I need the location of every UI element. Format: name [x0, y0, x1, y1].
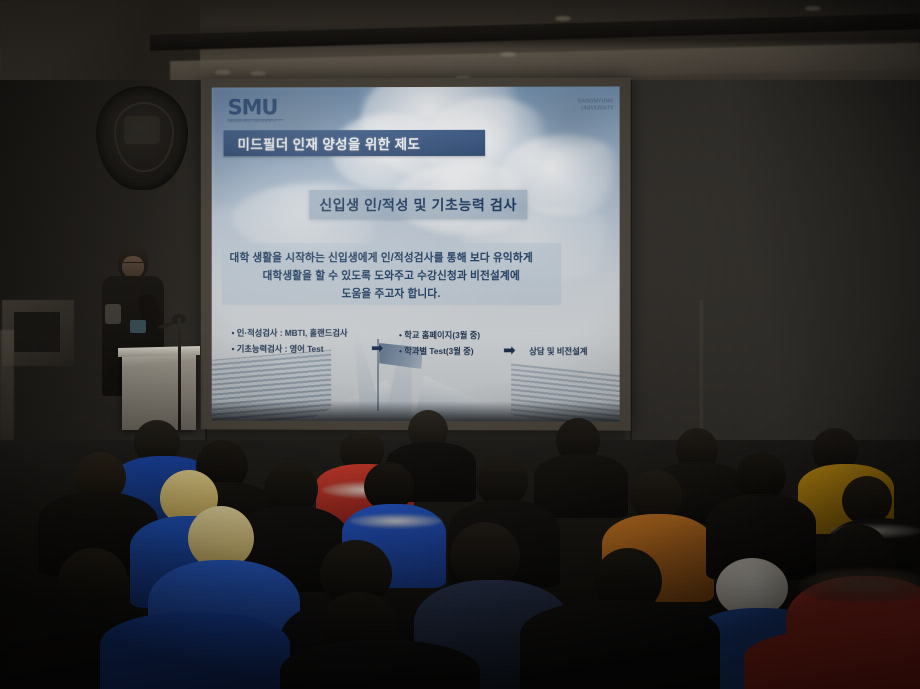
slide-subtitle: 신입생 인/적성 및 기초능력 검사 — [319, 194, 517, 214]
flow-group-1-item-2: • 기초능력검사 : 영어 Test — [232, 341, 348, 357]
projection-screen-frame: SMU SANGMYUNG UNIVERSITY SANGMYUNG UNIVE… — [201, 77, 631, 430]
audience-coat — [100, 612, 290, 689]
flow-group-2: • 학교 홈페이지(3월 중) • 학과별 Test(3월 중) — [399, 327, 480, 359]
slide-flow-diagram: • 인·적성검사 : MBTI, 홀랜드검사 • 기초능력검사 : 영어 Tes… — [212, 325, 620, 378]
glasses-icon — [123, 262, 143, 268]
ceiling-downlight — [555, 16, 571, 21]
right-wall — [625, 80, 920, 460]
audience-head — [630, 470, 682, 520]
flow-group-1: • 인·적성검사 : MBTI, 홀랜드검사 • 기초능력검사 : 영어 Tes… — [232, 325, 348, 357]
flow-group-2-item-1: • 학교 홈페이지(3월 중) — [399, 327, 480, 343]
slide-body-line-1: 대학 생활을 시작하는 신입생에게 인/적성검사를 통해 보다 유익하게 — [230, 249, 554, 267]
audience-coat — [534, 454, 628, 518]
slide-title: 미드필더 인재 양성을 위한 제도 — [224, 133, 421, 153]
audience-head — [188, 506, 254, 568]
slide-subtitle-box: 신입생 인/적성 및 기초능력 검사 — [309, 190, 527, 219]
podium-top-surface — [118, 346, 200, 357]
smu-logo-rule — [228, 119, 284, 120]
flow-group-3-item-1: 상담 및 비전설계 — [529, 343, 587, 359]
projection-screen[interactable]: SMU SANGMYUNG UNIVERSITY SANGMYUNG UNIVE… — [212, 86, 620, 421]
slide-body-line-2: 대학생활을 할 수 있도록 도와주고 수강신청과 비전설계에 — [230, 267, 554, 285]
flow-group-1-item-1: • 인·적성검사 : MBTI, 홀랜드검사 — [232, 325, 348, 341]
coat-fur-trim — [350, 514, 442, 528]
podium — [122, 352, 196, 430]
coat-hood-fur — [798, 568, 920, 602]
university-seal-emblem — [96, 86, 188, 190]
audience-coat — [744, 630, 920, 689]
wall-equipment-panel-inset — [14, 312, 60, 352]
audience-head — [736, 452, 786, 500]
slide-body-line-3: 도움을 주고자 합니다. — [230, 285, 554, 303]
corner-note-line-2: UNIVERSITY — [529, 106, 613, 113]
presentation-slide: SMU SANGMYUNG UNIVERSITY SANGMYUNG UNIVE… — [212, 86, 620, 421]
slide-corner-note: SANGMYUNG UNIVERSITY — [529, 99, 613, 119]
ceiling-downlight — [805, 6, 821, 11]
audience-coat — [520, 600, 720, 689]
audience-coat — [280, 640, 480, 689]
flow-arrow-1-icon: ➡ — [371, 339, 384, 357]
ceiling-downlight — [250, 71, 266, 76]
audience-head — [364, 462, 414, 510]
lecture-hall-photo: SMU SANGMYUNG UNIVERSITY SANGMYUNG UNIVE… — [0, 0, 920, 689]
audience-head — [476, 456, 528, 506]
slide-title-bar: 미드필더 인재 양성을 위한 제도 — [224, 130, 485, 156]
slide-body-box: 대학 생활을 시작하는 신입생에게 인/적성검사를 통해 보다 유익하게 대학생… — [222, 243, 562, 305]
audience-head — [842, 476, 892, 524]
speaker-shoulder-patch — [105, 304, 121, 324]
speaker-lanyard-badge — [130, 320, 146, 333]
flow-group-3: 상담 및 비전설계 — [529, 343, 587, 359]
flow-arrow-2-icon: ➡ — [503, 341, 516, 359]
microphone-stand — [178, 318, 181, 430]
audience-head — [450, 522, 520, 588]
ceiling-downlight — [500, 52, 516, 57]
smu-wordmark: SMU — [228, 97, 290, 117]
ceiling-downlight — [215, 70, 231, 75]
flow-group-2-item-2: • 학과별 Test(3월 중) — [399, 343, 480, 359]
smu-logo: SMU SANGMYUNG UNIVERSITY — [228, 97, 290, 125]
